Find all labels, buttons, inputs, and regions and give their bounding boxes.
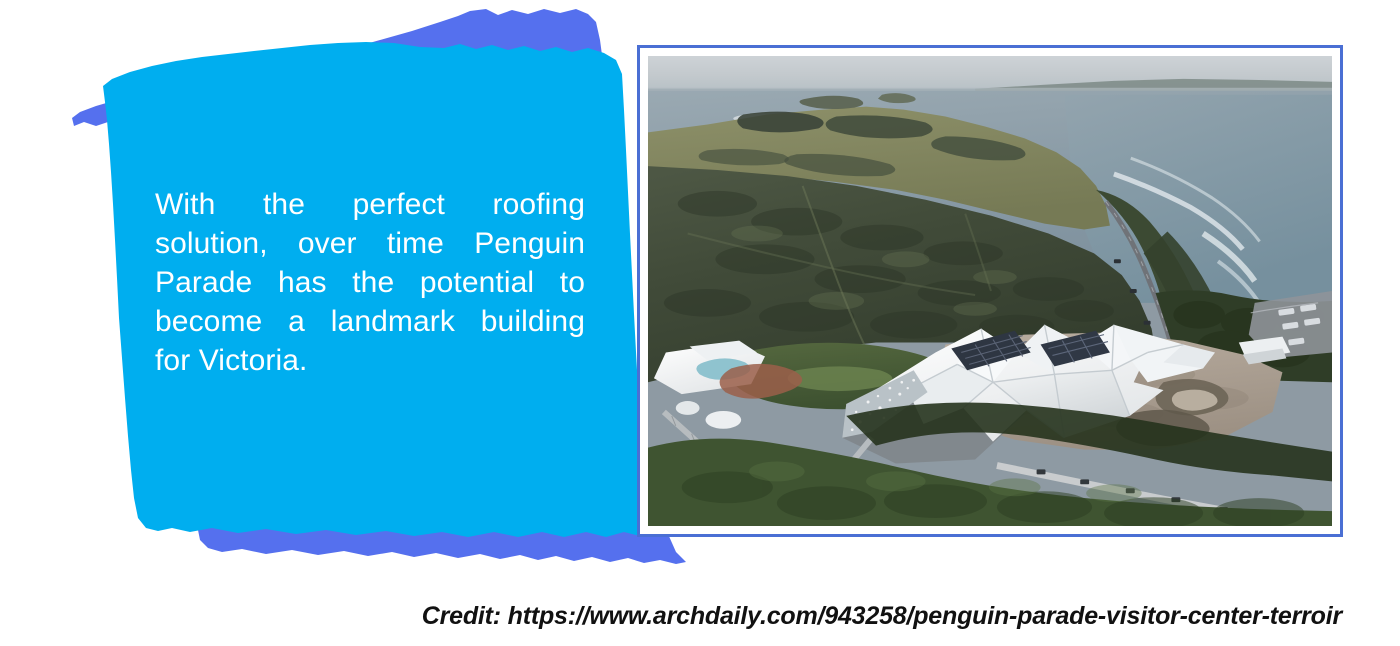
- quote-line-3: Parade has the potential to: [155, 263, 585, 302]
- aerial-photo: [648, 56, 1332, 526]
- photo-credit: Credit: https://www.archdaily.com/943258…: [0, 602, 1400, 631]
- photo-frame-border: [637, 45, 1343, 537]
- slide-canvas: With the perfect roofing solution, over …: [0, 0, 1400, 646]
- quote-line-4: become a landmark building: [155, 302, 585, 341]
- quote-line-1: With the perfect roofing: [155, 185, 585, 224]
- quote-line-5: for Victoria.: [155, 341, 585, 380]
- quote-line-2: solution, over time Penguin: [155, 224, 585, 263]
- quote-text: With the perfect roofing solution, over …: [155, 185, 585, 380]
